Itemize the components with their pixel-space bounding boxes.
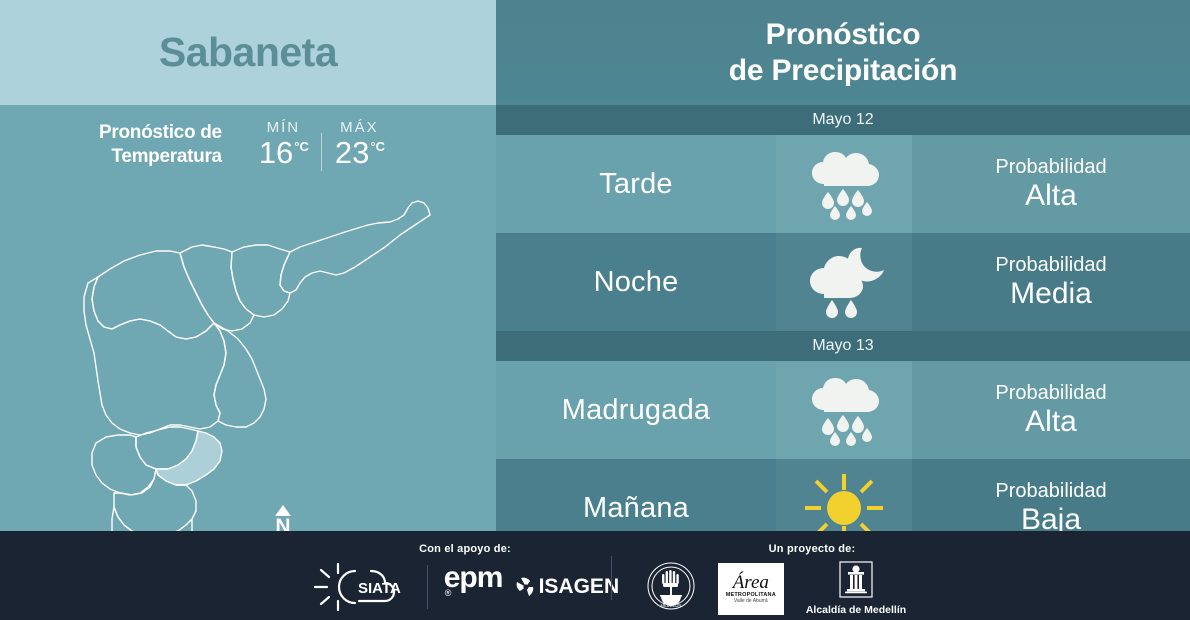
temperature-title-line2: Temperatura [99, 145, 222, 169]
temperature-forecast-block: Pronóstico de Temperatura MÍN 16°C MÁX 2… [0, 105, 496, 185]
probability-label: Probabilidad [995, 253, 1106, 277]
footer-divider-1 [427, 565, 428, 609]
precipitation-title-line1: Pronóstico [766, 17, 921, 53]
area-logo-sub2: Valle de Aburrá [734, 598, 768, 604]
precipitation-header: Pronóstico de Precipitación [496, 0, 1190, 105]
medellin-seal-text: MEDELLÍN [660, 603, 681, 608]
alcaldia-medellin-logo[interactable]: Alcaldía de Medellín [806, 561, 906, 616]
footer-support-group: Con el apoyo de: SIAT [320, 543, 610, 613]
footer-divider-2 [611, 556, 612, 600]
period-cell: Madrugada [496, 361, 776, 459]
forecast-row-madrugada[interactable]: Madrugada Probabilidad Al [496, 361, 1190, 459]
date-band-day1: Mayo 12 [496, 105, 1190, 135]
siata-logo-mark: SIATA [311, 561, 411, 613]
probability-value: Media [1010, 277, 1092, 311]
period-label: Mañana [583, 492, 689, 525]
alcaldia-logo-text: Alcaldía de Medellín [806, 604, 906, 616]
epm-registered-icon: ® [445, 588, 452, 598]
rain-cloud-icon [796, 144, 892, 224]
temperature-min-label: MÍN [259, 119, 308, 136]
support-caption: Con el apoyo de: [419, 543, 511, 555]
isagen-mark-icon [515, 577, 537, 597]
probability-label: Probabilidad [995, 155, 1106, 179]
temperature-min-unit: °C [294, 139, 309, 154]
moon-rain-cloud-icon [796, 242, 892, 322]
weather-icon-cell [776, 233, 912, 331]
area-metropolitana-logo[interactable]: Área METROPOLITANA Valle de Aburrá [718, 563, 784, 615]
period-label: Tarde [599, 168, 673, 201]
map-svg [0, 175, 496, 531]
temperature-max-unit: °C [370, 139, 385, 154]
left-panel: Sabaneta Pronóstico de Temperatura MÍN 1… [0, 0, 496, 531]
probability-label: Probabilidad [995, 381, 1106, 405]
alcaldia-shield-icon [839, 561, 873, 601]
probability-cell: Probabilidad Alta [912, 135, 1190, 233]
temperature-max-value: 23 [335, 137, 369, 169]
weather-icon-cell [776, 135, 912, 233]
isagen-logo[interactable]: ISAGEN [515, 575, 620, 599]
sabaneta-highlight [156, 431, 222, 485]
probability-label: Probabilidad [995, 479, 1106, 503]
period-label: Noche [594, 266, 679, 299]
project-logos: MEDELLÍN Área METROPOLITANA Valle de Abu… [646, 561, 906, 616]
precipitation-title-line2: de Precipitación [729, 53, 958, 89]
support-logos: SIATA epm ® [311, 561, 619, 613]
weather-forecast-infographic: Sabaneta Pronóstico de Temperatura MÍN 1… [0, 0, 1190, 620]
footer-project-group: Un proyecto de: [626, 543, 926, 616]
temperature-title-line1: Pronóstico de [99, 121, 222, 145]
isagen-logo-text: ISAGEN [539, 575, 620, 599]
siata-logo-text: SIATA [358, 580, 401, 597]
temperature-min-value: 16 [259, 137, 293, 169]
probability-cell: Probabilidad Media [912, 233, 1190, 331]
forecast-row-noche[interactable]: Noche Probabilidad Media [496, 233, 1190, 331]
period-cell: Tarde [496, 135, 776, 233]
probability-cell: Probabilidad Alta [912, 361, 1190, 459]
city-header: Sabaneta [0, 0, 496, 105]
municipality-map: N [0, 175, 496, 531]
medellin-seal-logo[interactable]: MEDELLÍN [646, 561, 696, 616]
area-logo-text: Área [733, 573, 769, 592]
period-cell: Noche [496, 233, 776, 331]
project-caption: Un proyecto de: [769, 543, 856, 555]
precipitation-panel: Pronóstico de Precipitación Mayo 12 Tard… [496, 0, 1190, 531]
city-name: Sabaneta [159, 29, 337, 76]
temperature-max: MÁX 23°C [322, 119, 397, 169]
probability-value: Alta [1025, 179, 1077, 213]
temperature-values: MÍN 16°C MÁX 23°C [246, 119, 397, 171]
epm-logo[interactable]: epm ® [444, 561, 503, 613]
weather-icon-cell [776, 361, 912, 459]
period-label: Madrugada [562, 394, 711, 427]
temperature-title: Pronóstico de Temperatura [99, 121, 246, 169]
footer: Con el apoyo de: SIAT [0, 531, 1190, 620]
probability-value: Alta [1025, 405, 1077, 439]
temperature-max-label: MÁX [335, 119, 384, 136]
forecast-row-tarde[interactable]: Tarde Probabilidad Alta [496, 135, 1190, 233]
epm-logo-text: epm [444, 561, 503, 594]
temperature-min: MÍN 16°C [246, 119, 321, 169]
rain-cloud-icon [796, 370, 892, 450]
siata-logo[interactable]: SIATA [311, 561, 411, 613]
medellin-seal-icon: MEDELLÍN [646, 561, 696, 611]
date-band-day2: Mayo 13 [496, 331, 1190, 361]
